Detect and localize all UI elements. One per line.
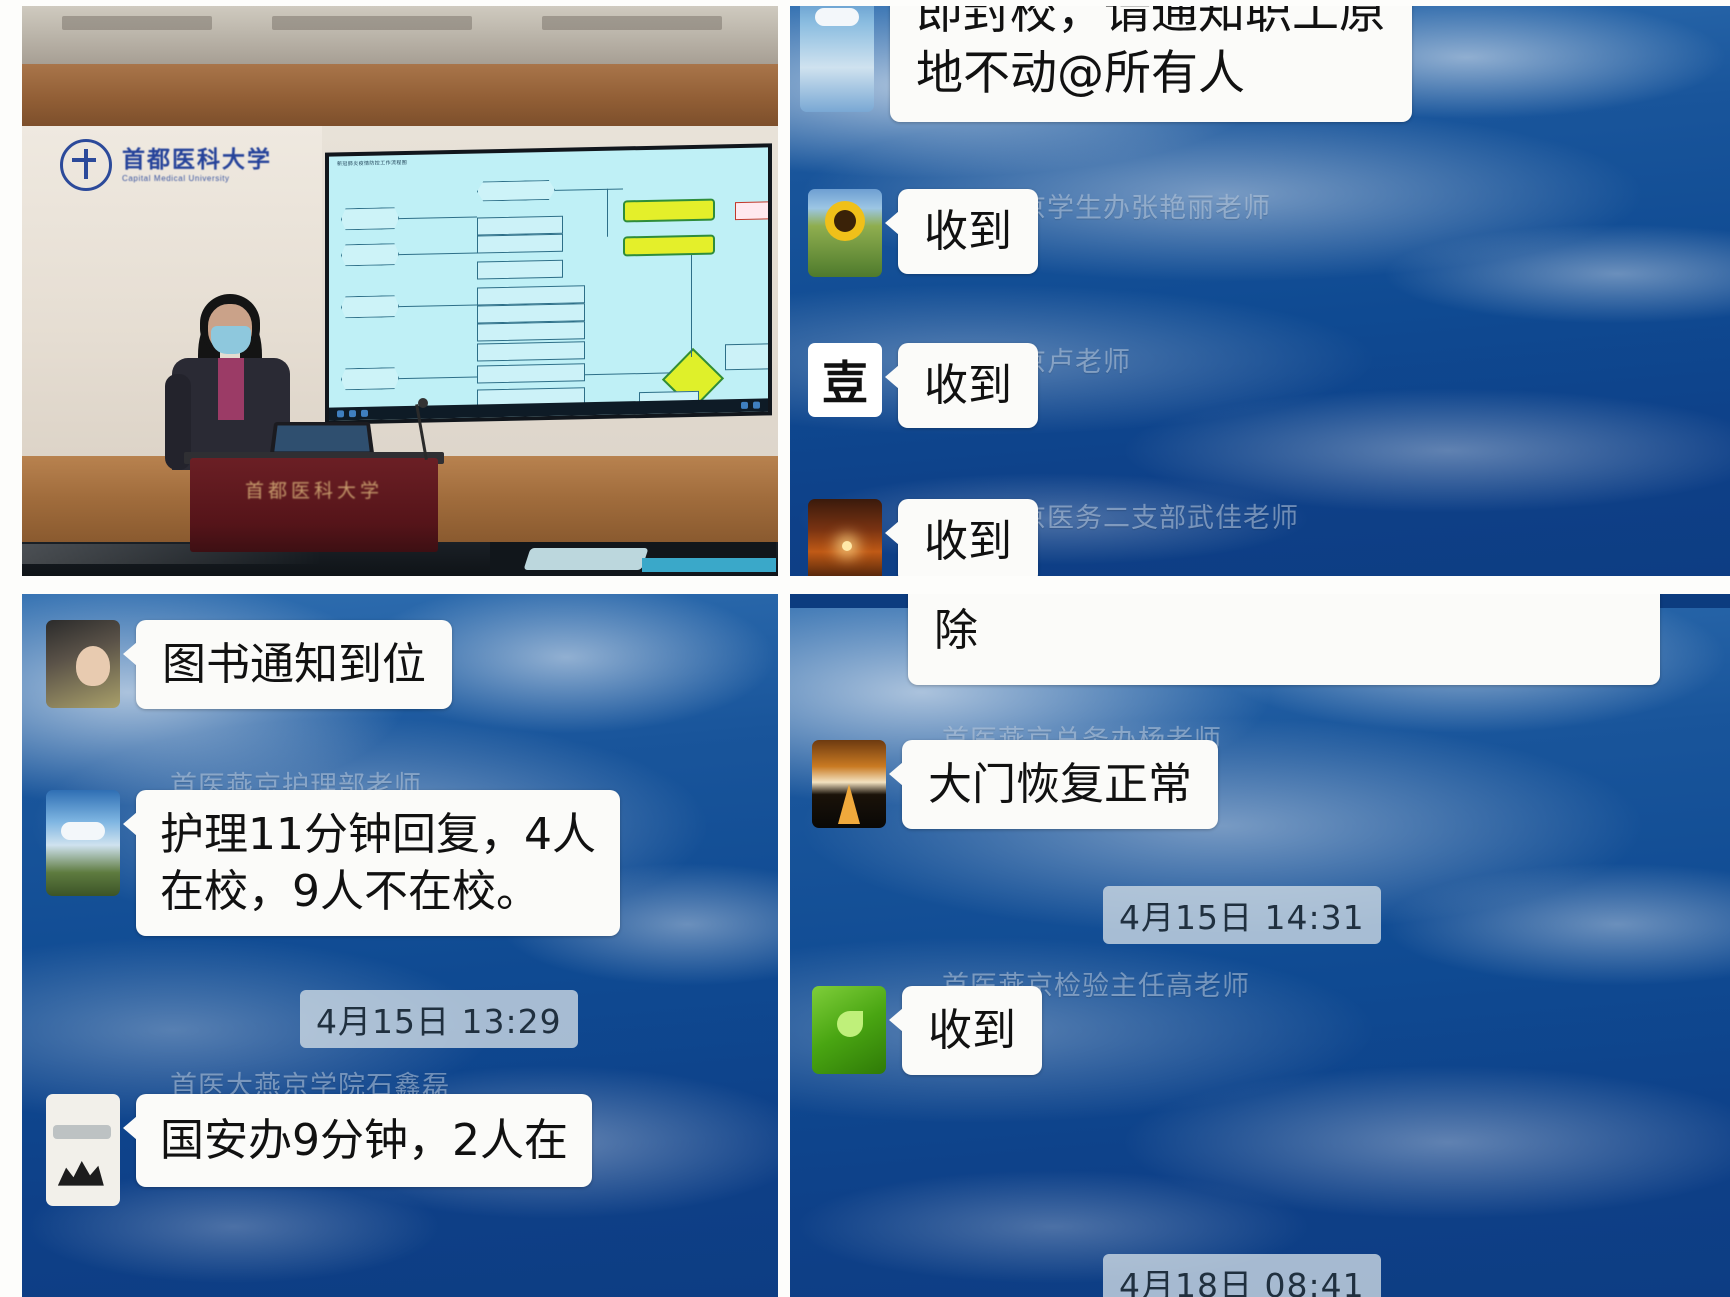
chat-top-right-panel: 即封校，请通知职工原 地不动@所有人 首医燕京学生办张艳丽老师 收到 首医燕京卢… — [790, 6, 1730, 576]
avatar[interactable] — [808, 499, 882, 576]
avatar[interactable] — [46, 620, 120, 708]
message-bubble[interactable]: 收到 — [898, 189, 1038, 274]
projection-screen: 新冠肺炎疫情防控工作流程图 — [325, 143, 772, 424]
chat-bottom-left-panel: 首医燕院图书馆老师 图书通知到位 首医燕京护理部老师 护理11分钟回复，4人 在… — [22, 594, 778, 1297]
podium: 首都医科大学 — [190, 458, 438, 552]
slide-content: 新冠肺炎疫情防控工作流程图 — [329, 147, 768, 420]
message-bubble[interactable]: 国安办9分钟，2人在 — [136, 1094, 592, 1187]
timestamp: 4月15日 13:29 — [300, 990, 578, 1048]
message-bubble[interactable]: 护理11分钟回复，4人 在校，9人不在校。 — [136, 790, 620, 936]
avatar[interactable] — [46, 1094, 120, 1206]
avatar[interactable] — [46, 790, 120, 896]
chat-bottom-right-panel: 除 首医燕京总务办杨老师 大门恢复正常 4月15日 14:31 首医燕京检验主任… — [790, 594, 1730, 1297]
timestamp: 4月18日 08:41 — [1103, 1254, 1381, 1297]
ceiling — [22, 6, 778, 64]
chat-message: 除 — [908, 594, 1660, 685]
message-bubble[interactable]: 图书通知到位 — [136, 620, 452, 709]
university-emblem-icon — [60, 139, 112, 191]
laptop — [270, 422, 375, 455]
lecture-photo-panel: 首都医科大学 Capital Medical University 新冠肺炎疫情… — [22, 6, 778, 576]
message-bubble[interactable]: 收到 — [902, 986, 1042, 1075]
podium-label: 首都医科大学 — [190, 476, 438, 503]
microphone-head-icon — [418, 398, 428, 408]
message-bubble[interactable]: 收到 — [898, 499, 1038, 576]
desk-object-secondary — [642, 558, 776, 572]
message-bubble[interactable]: 除 — [908, 594, 1660, 685]
screenshot-collage: 首都医科大学 Capital Medical University 新冠肺炎疫情… — [0, 0, 1730, 1297]
chat-message: 图书通知到位 — [46, 620, 452, 709]
message-bubble[interactable]: 收到 — [898, 343, 1038, 428]
chat-message: 即封校，请通知职工原 地不动@所有人 — [800, 6, 1412, 122]
desk-object — [523, 548, 648, 570]
chat-message: 壴 收到 — [808, 343, 1038, 428]
face-mask-icon — [211, 326, 251, 354]
chat-message: 收到 — [808, 189, 1038, 277]
avatar[interactable] — [812, 986, 886, 1074]
chat-message: 收到 — [808, 499, 1038, 576]
chat-message: 大门恢复正常 — [812, 740, 1218, 829]
avatar[interactable]: 壴 — [808, 343, 882, 417]
university-name-cn: 首都医科大学 — [122, 148, 272, 171]
timestamp: 4月15日 14:31 — [1103, 886, 1381, 944]
avatar[interactable] — [800, 6, 874, 112]
chat-message: 收到 — [812, 986, 1042, 1075]
chat-message: 护理11分钟回复，4人 在校，9人不在校。 — [46, 790, 620, 936]
seal-glyph-icon: 壴 — [822, 347, 868, 413]
message-bubble[interactable]: 即封校，请通知职工原 地不动@所有人 — [890, 6, 1412, 122]
university-logo: 首都医科大学 Capital Medical University — [60, 139, 300, 191]
avatar[interactable] — [808, 189, 882, 277]
wall-wood-band — [22, 64, 778, 126]
message-bubble[interactable]: 大门恢复正常 — [902, 740, 1218, 829]
avatar[interactable] — [812, 740, 886, 828]
speaker-shirt — [218, 358, 244, 420]
chat-message: 国安办9分钟，2人在 — [46, 1094, 592, 1206]
university-name-en: Capital Medical University — [122, 175, 272, 183]
slide-title: 新冠肺炎疫情防控工作流程图 — [337, 159, 407, 167]
